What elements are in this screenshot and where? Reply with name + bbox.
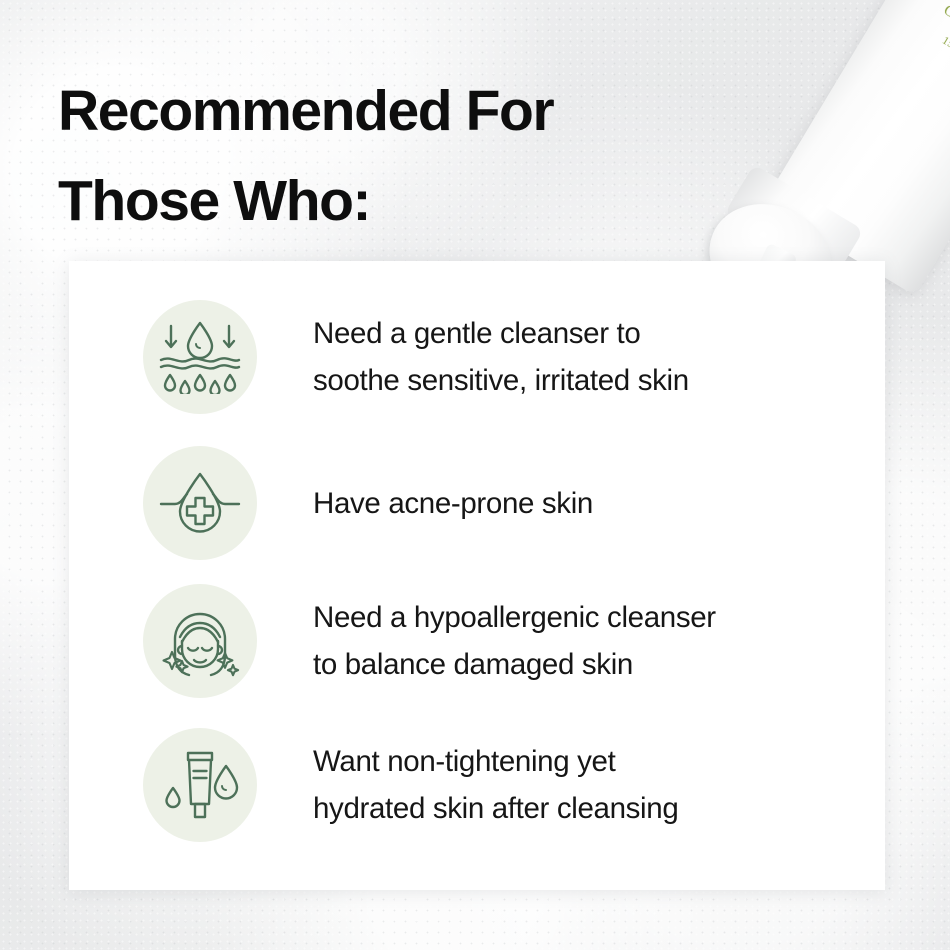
hydration-absorb-icon	[143, 300, 257, 414]
list-item: Want non-tightening yet hydrated skin af…	[69, 721, 885, 849]
list-item-label: Need a hypoallergenic cleanser to balanc…	[313, 594, 716, 688]
smiling-face-sparkles-icon	[143, 584, 257, 698]
list-item-label: Have acne-prone skin	[313, 480, 593, 527]
droplet-cross-icon	[143, 446, 257, 560]
list-item: Have acne-prone skin	[69, 439, 885, 567]
list-item: Need a hypoallergenic cleanser to balanc…	[69, 577, 885, 705]
cosmetic-tube-droplets-icon	[143, 728, 257, 842]
benefits-card: Need a gentle cleanser to soothe sensiti…	[69, 261, 885, 890]
product-infographic: Centella Cleansing Foam 150 ml / 5.07 fl…	[0, 0, 950, 950]
list-item: Need a gentle cleanser to soothe sensiti…	[69, 293, 885, 421]
page-title: Recommended For Those Who:	[58, 66, 698, 246]
benefits-list: Need a gentle cleanser to soothe sensiti…	[69, 261, 885, 890]
list-item-label: Want non-tightening yet hydrated skin af…	[313, 738, 678, 832]
list-item-label: Need a gentle cleanser to soothe sensiti…	[313, 310, 689, 404]
